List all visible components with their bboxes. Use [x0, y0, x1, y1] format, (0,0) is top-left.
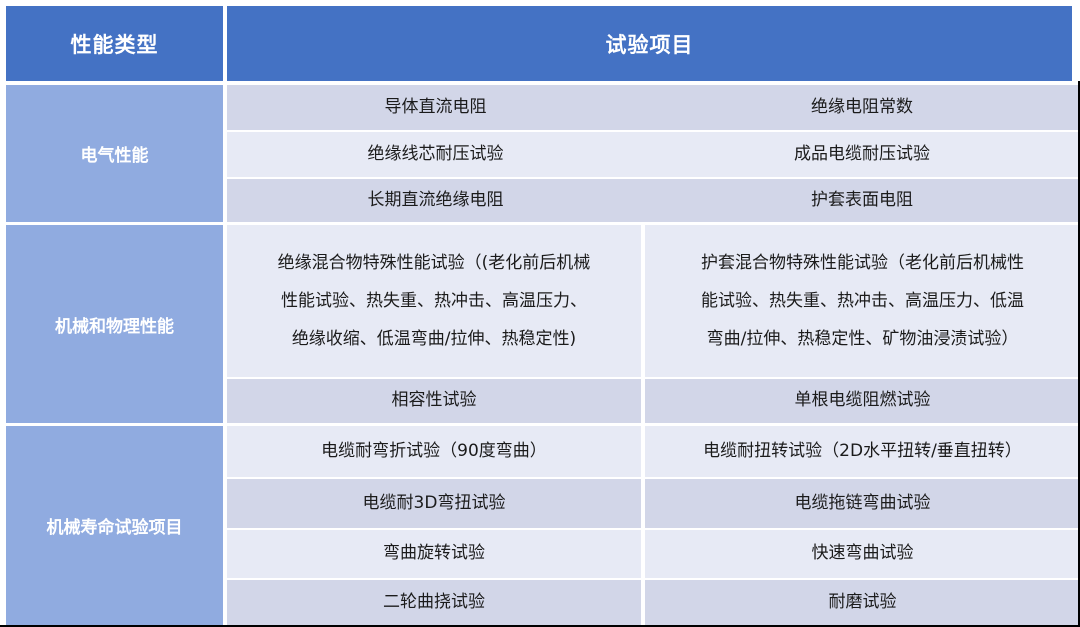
cell-text: 电缆拖链弯曲试验: [795, 487, 931, 520]
cell-text: 绝缘线芯耐压试验: [368, 138, 504, 171]
table-cell: 电缆耐3D弯扭试验: [227, 479, 641, 528]
table-cell: 绝缘混合物特殊性能试验（(老化前后机械 性能试验、热失重、热冲击、高温压力、 绝…: [227, 225, 641, 377]
table-cell: 电缆拖链弯曲试验: [645, 479, 1080, 528]
header-category-label: 性能类型: [71, 29, 159, 59]
cell-text: 护套表面电阻: [811, 184, 913, 217]
category-label-electrical: 电气性能: [81, 141, 149, 166]
table-cell: 电缆耐扭转试验（2D水平扭转/垂直扭转）: [645, 426, 1080, 477]
cell-text: 耐磨试验: [829, 586, 897, 619]
table-cell: 二轮曲挠试验: [227, 580, 641, 625]
table-cell: 电缆耐弯折试验（90度弯曲）: [227, 426, 641, 477]
cell-text: 长期直流绝缘电阻: [368, 184, 504, 217]
header-cell-category: 性能类型: [6, 6, 223, 81]
category-cell-mechanical-life-test: 机械寿命试验项目: [6, 426, 223, 625]
cell-text: 二轮曲挠试验: [383, 586, 485, 619]
header-test-items-label: 试验项目: [606, 29, 694, 59]
table-cell: 护套表面电阻: [644, 179, 1080, 222]
cell-text: 快速弯曲试验: [812, 537, 914, 570]
category-label-mechanical-life-test: 机械寿命试验项目: [47, 513, 183, 538]
category-label-mechanical-physical: 机械和物理性能: [55, 312, 174, 337]
header-cell-test-items: 试验项目: [227, 6, 1072, 81]
table-cell: 单根电缆阻燃试验: [645, 379, 1080, 423]
cell-text: 绝缘电阻常数: [811, 91, 913, 124]
cell-text: 电缆耐弯折试验（90度弯曲）: [321, 435, 547, 468]
cell-text: 相容性试验: [392, 384, 477, 417]
category-cell-electrical: 电气性能: [6, 85, 223, 222]
table-cell: 成品电缆耐压试验: [644, 132, 1080, 177]
table-cell: 绝缘电阻常数: [644, 85, 1080, 130]
table-cell: 弯曲旋转试验: [227, 530, 641, 578]
cell-text: 单根电缆阻燃试验: [795, 384, 931, 417]
table-cell: 快速弯曲试验: [645, 530, 1080, 578]
cell-text: 绝缘混合物特殊性能试验（(老化前后机械 性能试验、热失重、热冲击、高温压力、 绝…: [278, 244, 591, 359]
table-cell: 导体直流电阻: [227, 85, 644, 130]
cell-text: 弯曲旋转试验: [383, 537, 485, 570]
cell-text: 成品电缆耐压试验: [794, 138, 930, 171]
cell-text: 护套混合物特殊性能试验（老化前后机械性 能试验、热失重、热冲击、高温压力、低温 …: [701, 244, 1024, 359]
table-cell: 长期直流绝缘电阻: [227, 179, 644, 222]
table-cell: 相容性试验: [227, 379, 641, 423]
table-cell: 绝缘线芯耐压试验: [227, 132, 644, 177]
cell-text: 导体直流电阻: [385, 91, 487, 124]
table-cell: 护套混合物特殊性能试验（老化前后机械性 能试验、热失重、热冲击、高温压力、低温 …: [645, 225, 1080, 377]
cell-text: 电缆耐扭转试验（2D水平扭转/垂直扭转）: [703, 435, 1022, 468]
category-cell-mechanical-physical: 机械和物理性能: [6, 225, 223, 423]
performance-test-items-table: 性能类型 试验项目 电气性能 导体直流电阻 绝缘电阻常数 绝缘线芯耐压试验 成品…: [0, 0, 1080, 627]
table-cell: 耐磨试验: [645, 580, 1080, 625]
cell-text: 电缆耐3D弯扭试验: [363, 487, 506, 520]
